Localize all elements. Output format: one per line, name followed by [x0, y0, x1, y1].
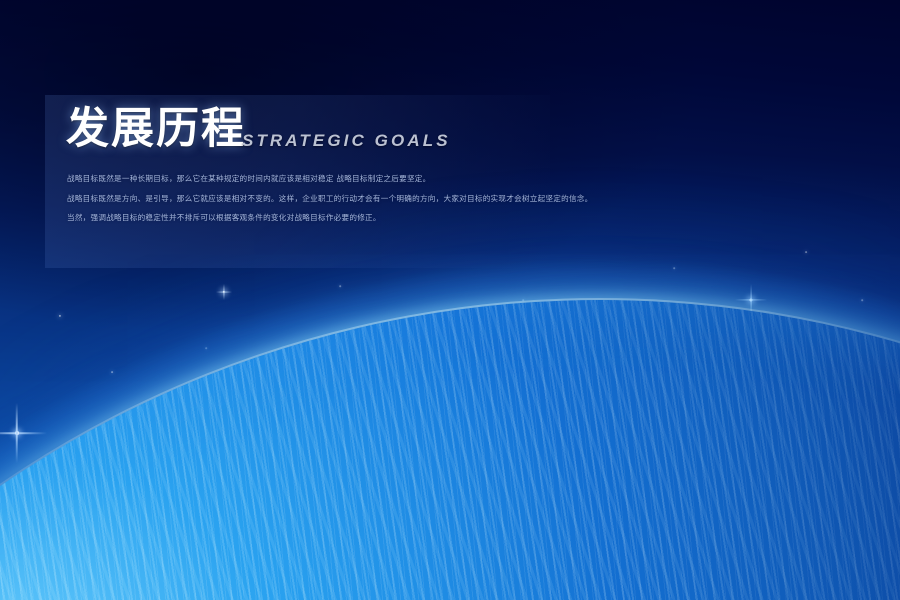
- limb-glow-mask: [0, 0, 900, 600]
- page-subtitle: STRATEGIC GOALS: [242, 132, 451, 151]
- earth-group: [0, 0, 900, 600]
- body-paragraph: 战略目标既然是一种长期目标，那么它在某种规定的时间内就应该是相对稳定 战略目标制…: [67, 172, 605, 186]
- hero-banner: 发展历程 STRATEGIC GOALS 战略目标既然是一种长期目标，那么它在某…: [0, 0, 900, 600]
- copy-block: 发展历程 STRATEGIC GOALS 战略目标既然是一种长期目标，那么它在某…: [45, 95, 605, 225]
- body-paragraphs: 战略目标既然是一种长期目标，那么它在某种规定的时间内就应该是相对稳定 战略目标制…: [45, 151, 605, 225]
- page-title: 发展历程: [66, 108, 246, 151]
- body-paragraph: 战略目标既然是方向、是引导，那么它就应该是相对不变的。这样，企业职工的行动才会有…: [67, 192, 605, 206]
- headline: 发展历程 STRATEGIC GOALS: [45, 95, 605, 151]
- body-paragraph: 当然，强调战略目标的稳定性并不排斥可以根据客观条件的变化对战略目标作必要的修正。: [67, 211, 605, 225]
